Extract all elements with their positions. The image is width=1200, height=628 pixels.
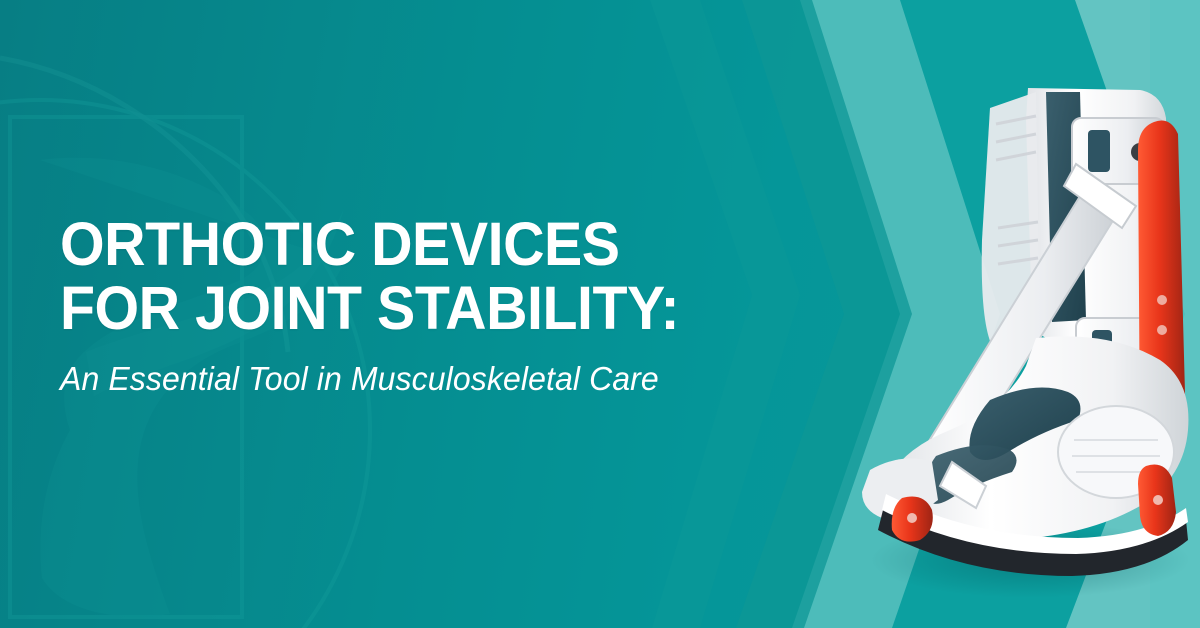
headline-line-2: FOR JOINT STABILITY: [60, 276, 774, 340]
banner-root: ORTHOTIC DEVICES FOR JOINT STABILITY: An… [0, 0, 1200, 628]
headline-line-1: ORTHOTIC DEVICES [60, 212, 774, 276]
page-subtitle: An Essential Tool in Musculoskeletal Car… [60, 360, 797, 398]
page-title: ORTHOTIC DEVICES FOR JOINT STABILITY: [60, 212, 774, 340]
text-block: ORTHOTIC DEVICES FOR JOINT STABILITY: An… [60, 212, 820, 398]
